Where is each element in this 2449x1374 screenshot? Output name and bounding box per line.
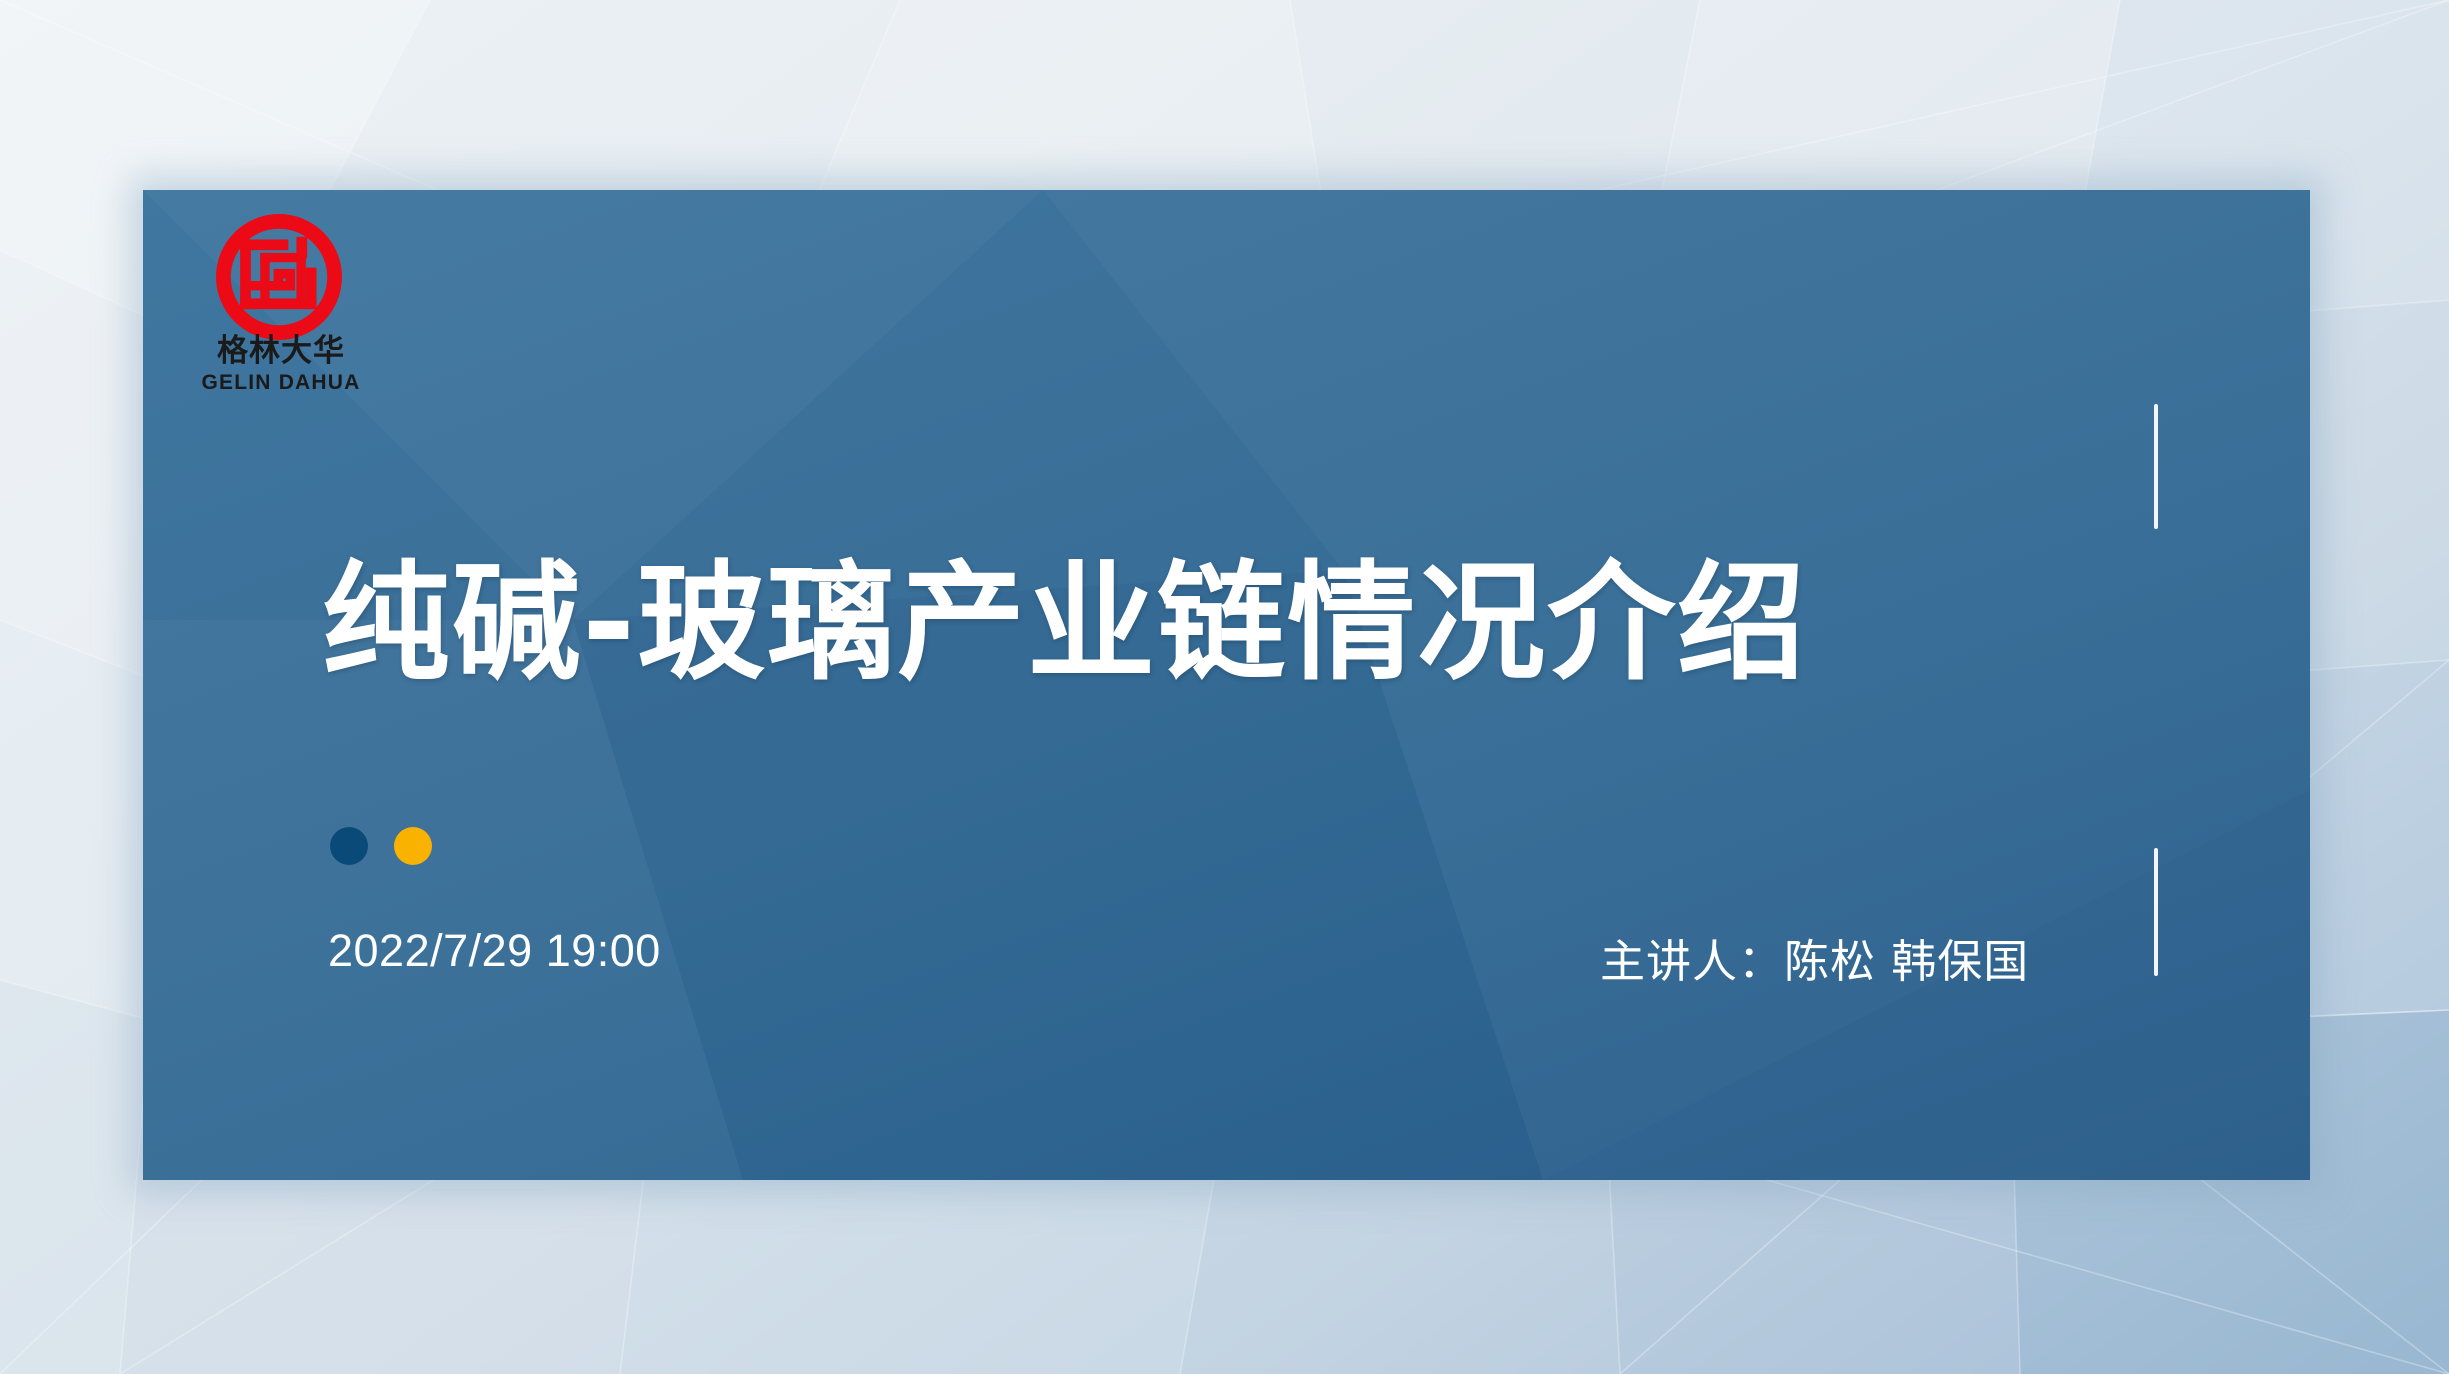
logo-company-name-en: GELIN DAHUA [186,372,376,393]
presentation-slide: 格林大华 GELIN DAHUA 纯碱-玻璃产业链情况介绍 2022/7/29 … [0,0,2449,1374]
vertical-rule-bottom [2154,848,2158,976]
vertical-rule-top [2154,404,2158,529]
slide-date-time: 2022/7/29 19:00 [328,925,661,977]
logo-company-name-cn: 格林大华 [186,336,376,367]
dot-gold-icon [394,827,432,865]
company-logo: 格林大华 GELIN DAHUA [186,210,376,390]
slide-title: 纯碱-玻璃产业链情况介绍 [322,548,1807,699]
gelin-dahua-seal-icon [212,210,346,344]
dot-navy-icon [330,827,368,865]
slide-speaker: 主讲人：陈松 韩保国 [1600,925,2029,990]
decorative-dots [330,827,432,865]
